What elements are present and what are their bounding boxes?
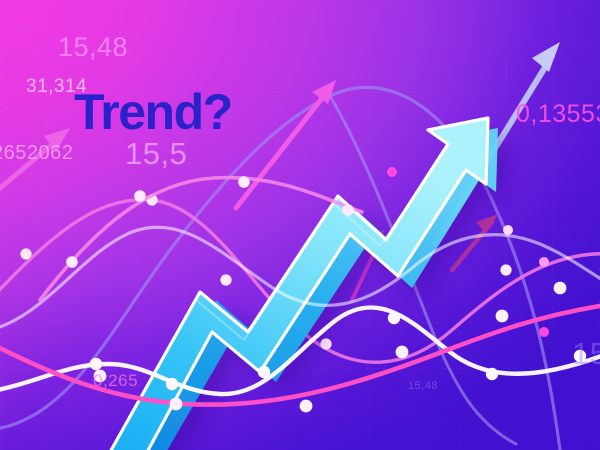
numeric-labels-layer: 15,48 31,314 2652062 15,5 0,13553 0,265 … [0,0,600,450]
value-label-15: 15 [572,336,600,372]
value-label-1548-faint: 15,48 [408,380,438,392]
value-label-013553: 0,13553 [516,100,600,129]
poster-canvas: 15,48 31,314 2652062 15,5 0,13553 0,265 … [0,0,600,450]
value-label-0265: 0,265 [93,371,138,391]
value-label-2652062: 2652062 [0,142,73,165]
page-title: Trend? [74,87,232,137]
value-label-1548: 15,48 [58,32,128,63]
value-label-155: 15,5 [125,136,187,172]
